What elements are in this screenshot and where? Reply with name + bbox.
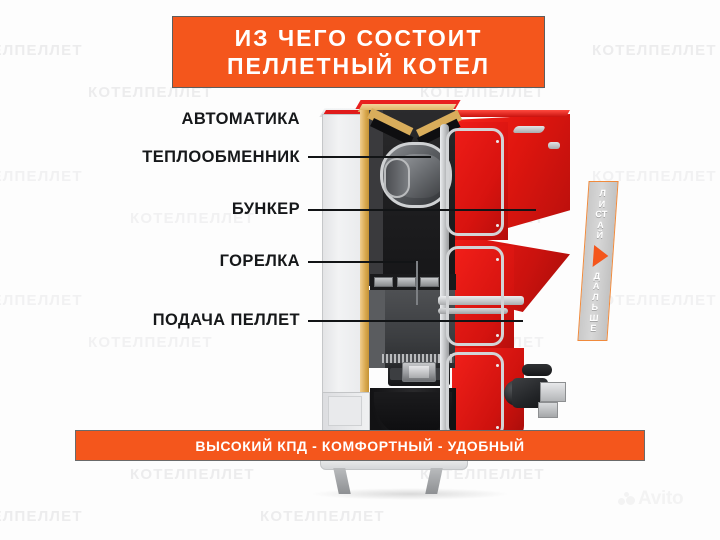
avito-watermark: Avito [618,488,683,510]
poster-canvas: КОТЕЛПЕЛЛЕТ КОТЕЛПЕЛЛЕТ КОТЕЛПЕЛЛЕТ КОТЕ… [0,0,720,540]
avito-wordmark: Avito [638,488,683,510]
watermark-text: КОТЕЛПЕЛЛЕТ [592,42,717,59]
watermark-text: КОТЕЛПЕЛЛЕТ [0,292,83,309]
leader-line-teploobmennik [308,156,431,158]
label-bunker: БУНКЕР [140,200,300,219]
leader-line-bunker [308,209,536,211]
watermark-text: КОТЕЛПЕЛЛЕТ [0,42,83,59]
swipe-tab-bottom-label: ДАЛЬШЕ [587,271,603,334]
leader-line-gorelka [308,261,418,263]
swipe-next-tab[interactable]: ЛИСТАЙ ДАЛЬШЕ [577,181,618,341]
header-title-line2: ПЕЛЛЕТНЫЙ КОТЕЛ [227,52,490,80]
header-title-line1: ИЗ ЧЕГО СОСТОИТ [235,24,483,52]
swipe-tab-top-label: ЛИСТАЙ [593,188,609,241]
watermark-text: КОТЕЛПЕЛЛЕТ [0,508,83,525]
leader-line-gorelka-drop [416,261,418,305]
triangle-right-icon [592,245,609,267]
label-gorelka: ГОРЕЛКА [130,252,300,271]
watermark-text: КОТЕЛПЕЛЛЕТ [88,334,213,351]
avito-logo-icon [618,492,635,506]
watermark-text: КОТЕЛПЕЛЛЕТ [592,292,717,309]
label-podacha-pellet: ПОДАЧА ПЕЛЛЕТ [110,311,300,330]
watermark-text: КОТЕЛПЕЛЛЕТ [260,508,385,525]
pellet-boiler-illustration [300,96,570,416]
leader-line-podacha-pellet [308,320,523,322]
header-banner: ИЗ ЧЕГО СОСТОИТ ПЕЛЛЕТНЫЙ КОТЕЛ [172,16,545,88]
watermark-text: КОТЕЛПЕЛЛЕТ [0,168,83,185]
footer-banner: ВЫСОКИЙ КПД - КОМФОРТНЫЙ - УДОБНЫЙ [75,430,645,461]
footer-text: ВЫСОКИЙ КПД - КОМФОРТНЫЙ - УДОБНЫЙ [195,438,524,454]
watermark-text: КОТЕЛПЕЛЛЕТ [130,466,255,483]
label-teploobmennik: ТЕПЛООБМЕННИК [100,148,300,167]
label-avtomatika: АВТОМАТИКА [120,110,300,129]
